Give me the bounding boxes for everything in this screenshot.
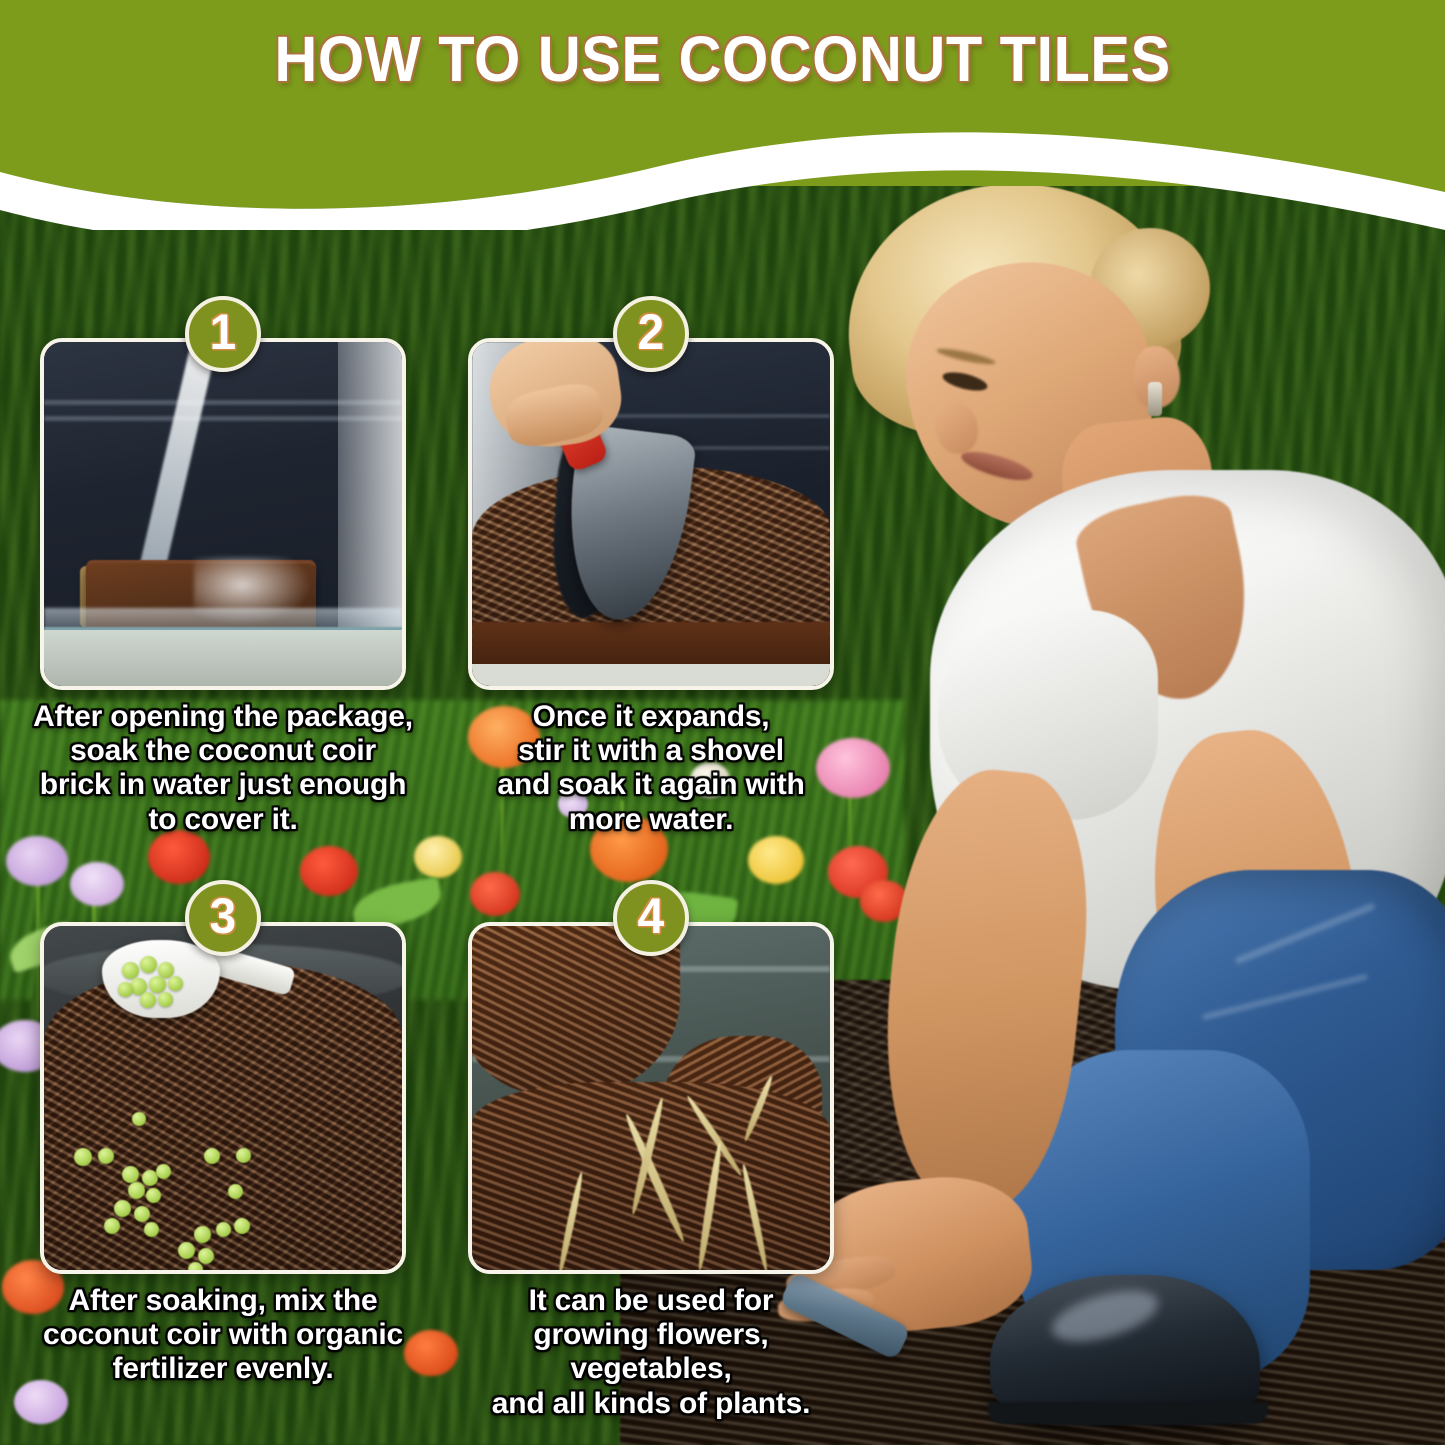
fertilizer-pellet <box>234 1218 250 1234</box>
step-badge-2: 2 <box>613 296 689 372</box>
fertilizer-pellet <box>118 982 133 997</box>
step-caption-4: It can be used for growing flowers, vege… <box>452 1284 850 1421</box>
fertilizer-pellet <box>236 1148 251 1163</box>
step-caption-1: After opening the package, soak the coco… <box>24 700 422 837</box>
fertilizer-pellet <box>140 992 156 1008</box>
fertilizer-pellet <box>188 1262 203 1274</box>
earring <box>1148 382 1162 416</box>
infographic-canvas: HOW TO USE COCONUT TILES 1 <box>0 0 1445 1445</box>
floor <box>472 664 830 686</box>
fertilizer-pellet <box>149 976 166 993</box>
step-number-3: 3 <box>210 891 237 941</box>
header: HOW TO USE COCONUT TILES <box>0 0 1445 230</box>
fertilizer-pellet <box>194 1226 211 1243</box>
page-title: HOW TO USE COCONUT TILES <box>51 22 1395 96</box>
fertilizer-pellet <box>132 1112 146 1126</box>
step-number-2: 2 <box>638 307 665 357</box>
fertilizer-pellet <box>178 1242 195 1259</box>
header-wave-divider <box>0 120 1445 230</box>
fertilizer-pellet <box>228 1184 243 1199</box>
fertilizer-pellet <box>128 1182 145 1199</box>
fertilizer-pellet <box>158 992 173 1007</box>
fertilizer-pellet <box>204 1148 220 1164</box>
fertilizer-pellet <box>168 976 183 991</box>
fertilizer-pellet <box>198 1248 214 1264</box>
fertilizer-pellet <box>134 1206 150 1222</box>
boot-sole <box>988 1402 1268 1424</box>
floor <box>44 630 402 686</box>
step-caption-2: Once it expands, stir it with a shovel a… <box>452 700 850 837</box>
fertilizer-pellet <box>122 962 139 979</box>
fertilizer-pellet <box>146 1188 161 1203</box>
fertilizer-pellet <box>156 1164 171 1179</box>
step-caption-3: After soaking, mix the coconut coir with… <box>24 1284 422 1387</box>
fertilizer-pellet <box>98 1148 114 1164</box>
step-image-2[interactable] <box>468 338 834 690</box>
fertilizer-pellet <box>122 1166 139 1183</box>
fertilizer-pellet <box>140 956 157 973</box>
step-badge-3: 3 <box>185 880 261 956</box>
step-number-1: 1 <box>210 307 237 357</box>
fertilizer-pellet <box>74 1148 92 1166</box>
step-image-4[interactable] <box>468 922 834 1274</box>
fertilizer-pellet <box>104 1218 120 1234</box>
fertilizer-pellet <box>114 1200 131 1217</box>
step-image-1[interactable] <box>40 338 406 690</box>
step-badge-4: 4 <box>613 880 689 956</box>
step-number-4: 4 <box>638 891 665 941</box>
step-image-3[interactable] <box>40 922 406 1274</box>
fertilizer-pellet <box>216 1222 231 1237</box>
step-badge-1: 1 <box>185 296 261 372</box>
fertilizer-pellet <box>144 1222 159 1237</box>
